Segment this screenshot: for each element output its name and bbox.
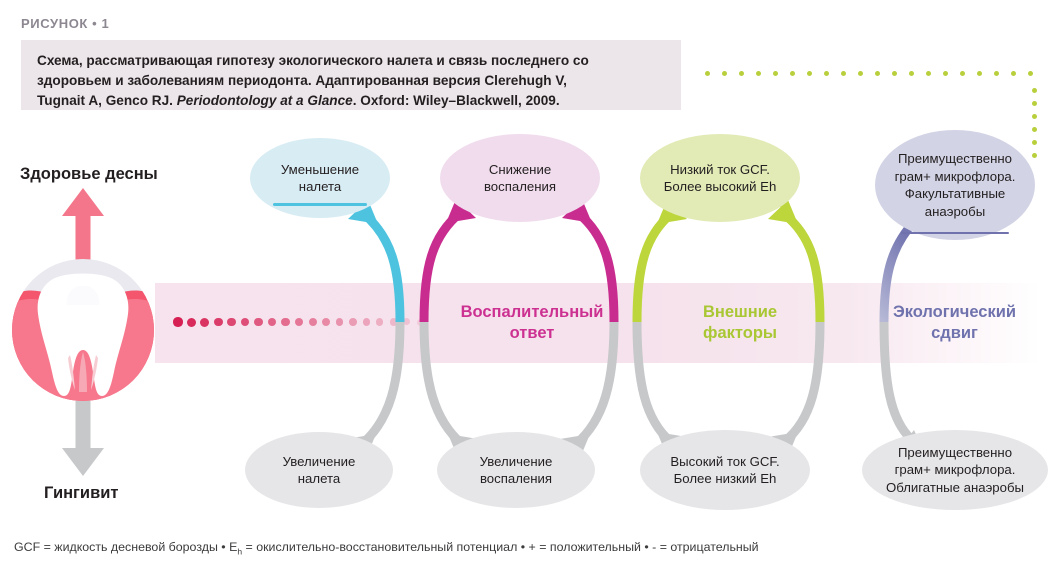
node-line-1: Увеличение (480, 454, 553, 469)
footnote-part-2: = окислительно-восстановительный потенци… (242, 540, 758, 554)
node-text: Высокий ток GCF. Более низкий Eh (662, 453, 787, 488)
node-text: Снижение воспаления (476, 161, 564, 196)
node-line-2: налета (298, 471, 340, 486)
node-gram-positive-facultative[interactable]: Преимущественно грам+ микрофлора. Факуль… (875, 130, 1035, 240)
node-high-gcf-low-eh[interactable]: Высокий ток GCF. Более низкий Eh (640, 430, 810, 510)
node-line-1: Преимущественно (898, 151, 1012, 166)
node-increase-plaque[interactable]: Увеличение налета (245, 432, 393, 508)
node-text: Увеличение налета (275, 453, 364, 488)
arrow-up-low-gcf-left (637, 200, 687, 322)
arrow-up-low-gcf-right (768, 200, 820, 322)
arrow-down-increase-inflammation-left (424, 322, 478, 458)
node-text: Преимущественно грам+ микрофлора. Облига… (878, 444, 1032, 497)
axis-label-gum-health: Здоровье десны (20, 165, 158, 184)
arrow-up-gum-health (62, 188, 104, 260)
node-text: Уменьшение налета (273, 161, 367, 196)
arrow-up-reduce-inflammation-right (562, 199, 614, 322)
node-line-2: воспаления (484, 179, 556, 194)
footnote-part-1: GCF = жидкость десневой борозды • E (14, 540, 237, 554)
axis-label-gingivitis: Гингивит (44, 484, 118, 503)
node-increase-inflammation[interactable]: Увеличение воспаления (437, 432, 595, 508)
node-line-1: Преимущественно (898, 445, 1012, 460)
arrow-down-increase-inflammation-right (560, 322, 614, 458)
node-line-1: Уменьшение (281, 162, 359, 177)
node-line-2: Более высокий Eh (664, 179, 777, 194)
arrow-up-reduce-plaque (348, 200, 400, 322)
node-line-1: Снижение (489, 162, 551, 177)
node-gram-positive-obligate[interactable]: Преимущественно грам+ микрофлора. Облига… (862, 430, 1048, 510)
figure-page: РИСУНОК • 1 Схема, рассматривающая гипот… (0, 0, 1054, 571)
node-line-3: Факультативные (905, 186, 1006, 201)
node-reduce-plaque[interactable]: Уменьшение налета (250, 138, 390, 218)
node-line-2: грам+ микрофлора. (895, 462, 1016, 477)
node-text: Низкий ток GCF. Более высокий Eh (656, 161, 785, 196)
figure-footnote: GCF = жидкость десневой борозды • Eh = о… (14, 540, 1034, 556)
node-low-gcf-high-eh[interactable]: Низкий ток GCF. Более высокий Eh (640, 134, 800, 222)
node-line-2: налета (299, 179, 341, 194)
arrow-down-high-gcf-right (768, 322, 820, 456)
node-text: Увеличение воспаления (472, 453, 561, 488)
node-underline (273, 203, 367, 206)
node-line-1: Увеличение (283, 454, 356, 469)
node-reduce-inflammation[interactable]: Снижение воспаления (440, 134, 600, 222)
node-line-2: грам+ микрофлора. (895, 169, 1016, 184)
node-text: Преимущественно грам+ микрофлора. Факуль… (887, 150, 1024, 220)
node-line-1: Высокий ток GCF. (670, 454, 779, 469)
node-line-2: воспаления (480, 471, 552, 486)
node-line-3: Облигатные анаэробы (886, 480, 1024, 495)
node-line-1: Низкий ток GCF. (670, 162, 770, 177)
node-underline (901, 232, 1010, 235)
node-line-2: Более низкий Eh (674, 471, 777, 486)
arrow-up-reduce-inflammation-left (424, 199, 476, 322)
tooth-gum-illustration (12, 259, 154, 401)
arrow-down-gingivitis (62, 400, 104, 476)
node-line-4: анаэробы (925, 204, 985, 219)
